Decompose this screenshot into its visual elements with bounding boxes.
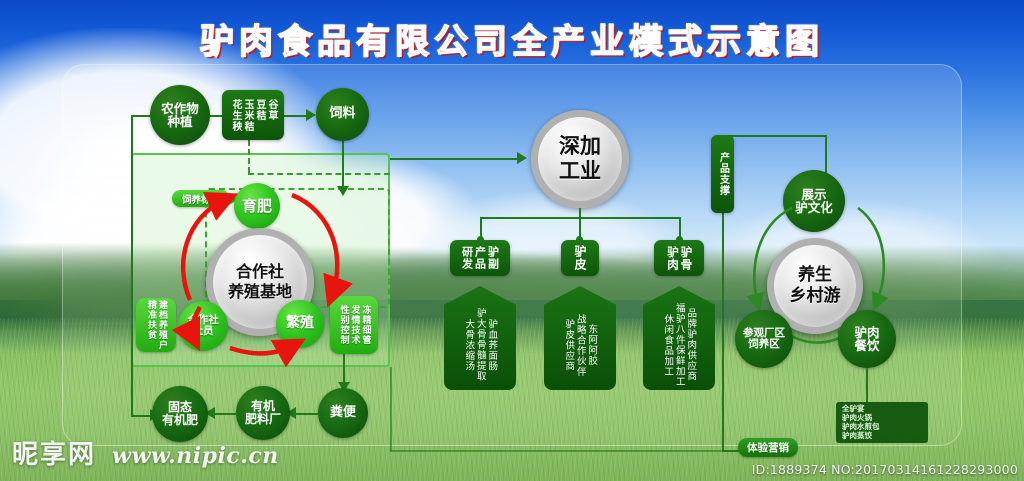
- group-0-header-col-2: 研发: [462, 246, 473, 270]
- arrowhead-to-processing: [517, 152, 527, 164]
- group-2-body-col-1: 福驴八件保鲜加工: [674, 303, 684, 387]
- node-visit-factory[interactable]: 参观厂区 饲养区: [735, 310, 793, 368]
- straw-columns: 谷草 豆秸 玉米秸 花生秧: [230, 99, 276, 132]
- group-1-header-columns: 驴皮: [574, 245, 586, 271]
- menu-box[interactable]: 全驴宴 驴肉火锅 驴肉水煎包 驴肉蒸饺: [836, 402, 928, 443]
- arrowhead-to-feed: [306, 109, 316, 121]
- processing-group-0-body[interactable]: 驴血荞面肠 驴大骨骨髓提取 大骨浓缩汤: [444, 286, 516, 390]
- infographic-poster: 驴肉食品有限公司全产业模式示意图 农作物 种植 谷草 豆秸 玉米秸 花生秧 饲料…: [0, 0, 1024, 481]
- connector-support-top-drop: [825, 135, 827, 177]
- connector-dining-to-menu: [866, 368, 868, 402]
- node-visit-factory-label: 参观厂区 饲养区: [743, 328, 785, 351]
- node-fertilizer-plant-label: 有机 肥料厂: [245, 400, 281, 426]
- connector-breeding-to-processing: [390, 158, 520, 160]
- group-0-body-col-2: 大骨浓缩汤: [464, 319, 474, 372]
- node-dung[interactable]: 粪便: [318, 388, 368, 438]
- straw-col-0: 谷草: [266, 99, 276, 132]
- processing-group-2-body[interactable]: 品牌驴肉供应商 福驴八件保鲜加工 休闲食品加工: [643, 286, 715, 390]
- node-solid-organic-fertilizer[interactable]: 固态 有机肥: [152, 386, 208, 442]
- group-2-body-columns: 品牌驴肉供应商 福驴八件保鲜加工 休闲食品加工: [643, 286, 715, 390]
- node-donkey-dining[interactable]: 驴肉 餐饮: [838, 310, 896, 368]
- footer-id-text: ID:1889374 NO:20170314161228293000: [752, 462, 1018, 477]
- node-deep-processing-label: 深加 工业: [559, 134, 601, 184]
- processing-group-2-header[interactable]: 驴骨 驴肉: [654, 240, 704, 276]
- red-cycle-arrows: [150, 175, 360, 365]
- group-2-header-col-1: 驴肉: [667, 246, 679, 271]
- processing-group-0-header[interactable]: 驴副 产品 研发: [450, 240, 510, 276]
- group-0-header-col-1: 产品: [475, 246, 486, 270]
- tag-experience-marketing-label: 体验营销: [747, 440, 789, 455]
- straw-col-3: 花生秧: [230, 99, 240, 132]
- node-solid-fertilizer-label: 固态 有机肥: [162, 401, 198, 427]
- connector-dung-to-plant: [292, 413, 319, 415]
- node-crop-planting[interactable]: 农作物 种植: [150, 85, 210, 145]
- group-1-body-col-0: 东阿阿胶: [587, 324, 597, 366]
- group-0-body-col-1: 驴大骨骨髓提取: [475, 308, 485, 382]
- breeding-tech-col-0: 冻精细管: [361, 305, 370, 345]
- group-0-body-col-0: 驴血荞面肠: [487, 319, 497, 372]
- node-donkey-dining-label: 驴肉 餐饮: [854, 326, 879, 353]
- group-0-header-columns: 驴副 产品 研发: [462, 246, 499, 270]
- group-1-body-col-2: 驴皮供应商: [564, 319, 574, 372]
- node-dung-label: 粪便: [330, 406, 356, 420]
- dashed-straw-down: [248, 140, 250, 173]
- straw-col-1: 豆秸: [254, 99, 264, 132]
- group-2-body-col-0: 品牌驴肉供应商: [686, 308, 696, 382]
- connector-support-top: [722, 135, 827, 137]
- page-title: 驴肉食品有限公司全产业模式示意图: [0, 14, 1024, 63]
- straw-col-2: 玉米秸: [242, 99, 252, 132]
- node-straw-materials[interactable]: 谷草 豆秸 玉米秸 花生秧: [222, 90, 284, 140]
- node-feed[interactable]: 饲料: [316, 88, 369, 141]
- connector-straw-to-feed: [283, 115, 308, 117]
- processing-group-1-header[interactable]: 驴皮: [561, 240, 599, 276]
- node-deep-processing-hub[interactable]: 深加 工业: [531, 110, 629, 208]
- tag-product-support-label: 产品支撑: [718, 152, 728, 196]
- group-1-header-col-0: 驴皮: [574, 245, 586, 271]
- menu-item: 驴肉蒸饺: [842, 432, 922, 441]
- group-2-header-columns: 驴骨 驴肉: [667, 246, 692, 271]
- node-feed-label: 饲料: [329, 107, 355, 121]
- watermark-cn: 昵享网: [12, 434, 96, 471]
- tag-experience-marketing[interactable]: 体验营销: [738, 438, 798, 457]
- group-0-body-columns: 驴血荞面肠 驴大骨骨髓提取 大骨浓缩汤: [444, 286, 516, 390]
- connector-bottom-long-riser: [390, 367, 392, 451]
- node-fertilizer-plant[interactable]: 有机 肥料厂: [236, 386, 290, 440]
- connector-left-outer-vertical: [131, 115, 133, 417]
- group-1-body-columns: 东阿阿胶 战略合作伙伴 驴皮供应商: [544, 286, 616, 390]
- group-2-header-col-0: 驴骨: [680, 246, 692, 271]
- group-1-body-col-1: 战略合作伙伴: [575, 314, 585, 377]
- group-2-body-col-2: 休闲食品加工: [663, 314, 673, 377]
- connector-support-down: [722, 212, 724, 452]
- connector-bottom-long: [390, 450, 722, 452]
- tag-product-support[interactable]: 产品支撑: [711, 135, 734, 213]
- processing-group-1-body[interactable]: 东阿阿胶 战略合作伙伴 驴皮供应商: [544, 286, 616, 390]
- group-0-header-col-0: 驴副: [488, 246, 499, 270]
- watermark-en: www.nipic.cn: [112, 443, 279, 469]
- node-crop-planting-label: 农作物 种植: [161, 102, 199, 129]
